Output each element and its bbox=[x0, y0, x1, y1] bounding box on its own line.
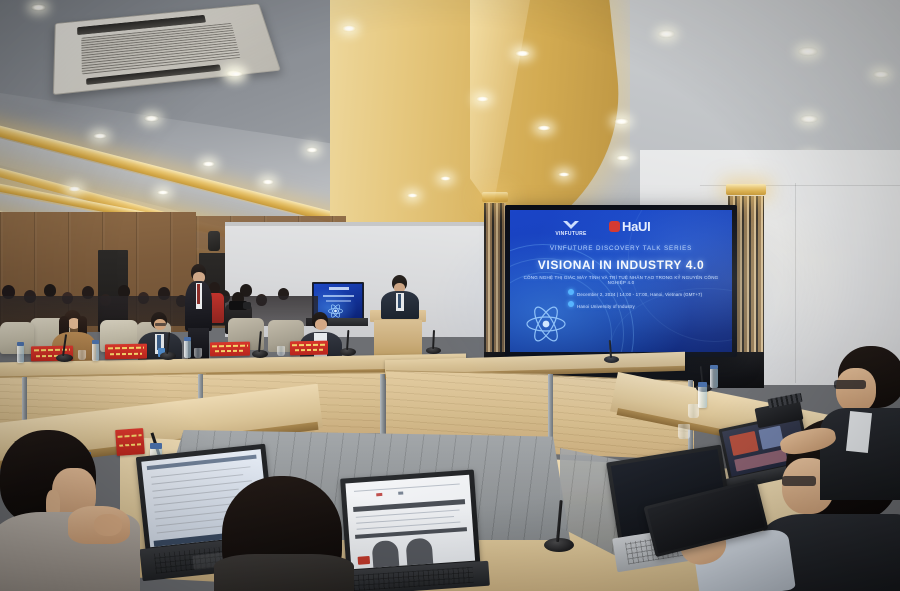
hand bbox=[94, 514, 122, 536]
name-tent-card bbox=[290, 341, 328, 356]
ceiling-downlight bbox=[558, 172, 570, 177]
screen-title: VISIONAI IN INDUSTRY 4.0 bbox=[510, 258, 732, 272]
water-bottle bbox=[698, 386, 707, 408]
foreground-attendee-woman-left bbox=[0, 430, 180, 591]
ceiling-downlight bbox=[440, 176, 451, 181]
name-tent-card bbox=[105, 344, 147, 360]
drinking-glass bbox=[678, 424, 690, 439]
drinking-glass bbox=[277, 346, 285, 356]
name-tent-card bbox=[210, 342, 250, 357]
eyeglasses-icon bbox=[834, 380, 866, 389]
drinking-glass bbox=[194, 348, 202, 358]
gooseneck-microphone bbox=[56, 354, 73, 362]
ceiling-downlight bbox=[202, 161, 215, 167]
ceiling-downlight bbox=[262, 179, 274, 185]
bottle-cap bbox=[17, 342, 24, 346]
ceiling-downlight bbox=[342, 25, 356, 32]
drinking-glass bbox=[688, 404, 699, 418]
water-bottle bbox=[184, 340, 191, 358]
series-label: VINFUTURE DISCOVERY TALK SERIES bbox=[510, 245, 732, 252]
foreground-attendee-man-right bbox=[820, 346, 900, 496]
eyeglasses-icon bbox=[155, 323, 166, 326]
ceiling-downlight bbox=[537, 125, 551, 131]
screen-content: VINFUTURE HaUI VINFUTURE DISCOVERY TALK … bbox=[510, 210, 732, 352]
wall-speaker-icon bbox=[208, 231, 220, 251]
ceiling-downlight bbox=[31, 4, 46, 11]
drinking-glass bbox=[78, 350, 86, 360]
screen-meta-date: December 2, 2024 | 14:00 - 17:00, Hanoi,… bbox=[568, 289, 702, 297]
bottle-cap bbox=[184, 337, 191, 341]
bottle-cap bbox=[710, 365, 718, 369]
ceiling-downlight bbox=[658, 30, 675, 38]
ceiling-downlight bbox=[93, 133, 107, 139]
ceiling-downlight bbox=[800, 115, 818, 123]
bottle-cap bbox=[92, 340, 99, 344]
haui-logo-text: HaUI bbox=[622, 219, 650, 234]
ceiling-downlight bbox=[515, 50, 530, 57]
location-icon bbox=[568, 301, 574, 307]
ceiling-downlight bbox=[614, 118, 629, 125]
eyeglasses-icon bbox=[782, 476, 816, 486]
ceiling-downlight bbox=[157, 190, 169, 195]
ceiling-downlight bbox=[873, 71, 889, 78]
slat-cove-light bbox=[482, 192, 508, 202]
foreground-attendee-shoulders bbox=[214, 554, 354, 591]
face bbox=[836, 368, 876, 412]
atom-icon bbox=[524, 302, 568, 346]
ceiling-downlight bbox=[68, 186, 81, 192]
table-panel bbox=[386, 370, 551, 444]
screen-subtitle: CÔNG NGHỆ THỊ GIÁC MÁY TÍNH VÀ TRÍ TUỆ N… bbox=[510, 275, 732, 285]
screen-meta-venue: Hanoi University of Industry bbox=[568, 301, 635, 309]
slat-cove-light bbox=[726, 184, 766, 195]
water-bottle bbox=[17, 345, 24, 363]
ceiling-downlight bbox=[476, 96, 489, 102]
vinfuture-logo: VINFUTURE bbox=[538, 220, 604, 238]
shirt bbox=[846, 411, 872, 453]
wood-slat-panel-left bbox=[484, 203, 506, 371]
bottle-cap bbox=[698, 382, 707, 387]
water-bottle bbox=[92, 343, 99, 361]
ceiling-downlight bbox=[798, 47, 818, 56]
vinfuture-logo-text: VINFUTURE bbox=[555, 231, 586, 237]
presenter-at-podium bbox=[378, 275, 422, 317]
ceiling-downlight bbox=[306, 147, 318, 153]
ceiling-downlight bbox=[616, 155, 630, 161]
calendar-icon bbox=[568, 289, 574, 295]
conference-room-photo: VINFUTURE HaUI VINFUTURE DISCOVERY TALK … bbox=[0, 0, 900, 591]
presentation-screen: VINFUTURE HaUI VINFUTURE DISCOVERY TALK … bbox=[505, 205, 737, 357]
wall-seam bbox=[795, 183, 796, 383]
haui-seal-icon bbox=[609, 221, 620, 232]
table-leg bbox=[380, 374, 385, 438]
ceiling-downlight bbox=[229, 71, 243, 77]
water-bottle bbox=[710, 368, 718, 388]
laptop-foreground-center[interactable] bbox=[332, 469, 490, 591]
ceiling-downlight bbox=[144, 115, 159, 122]
wall-shadowline bbox=[225, 222, 485, 226]
presenter-tie bbox=[398, 294, 401, 308]
ceiling-downlight bbox=[407, 193, 418, 198]
